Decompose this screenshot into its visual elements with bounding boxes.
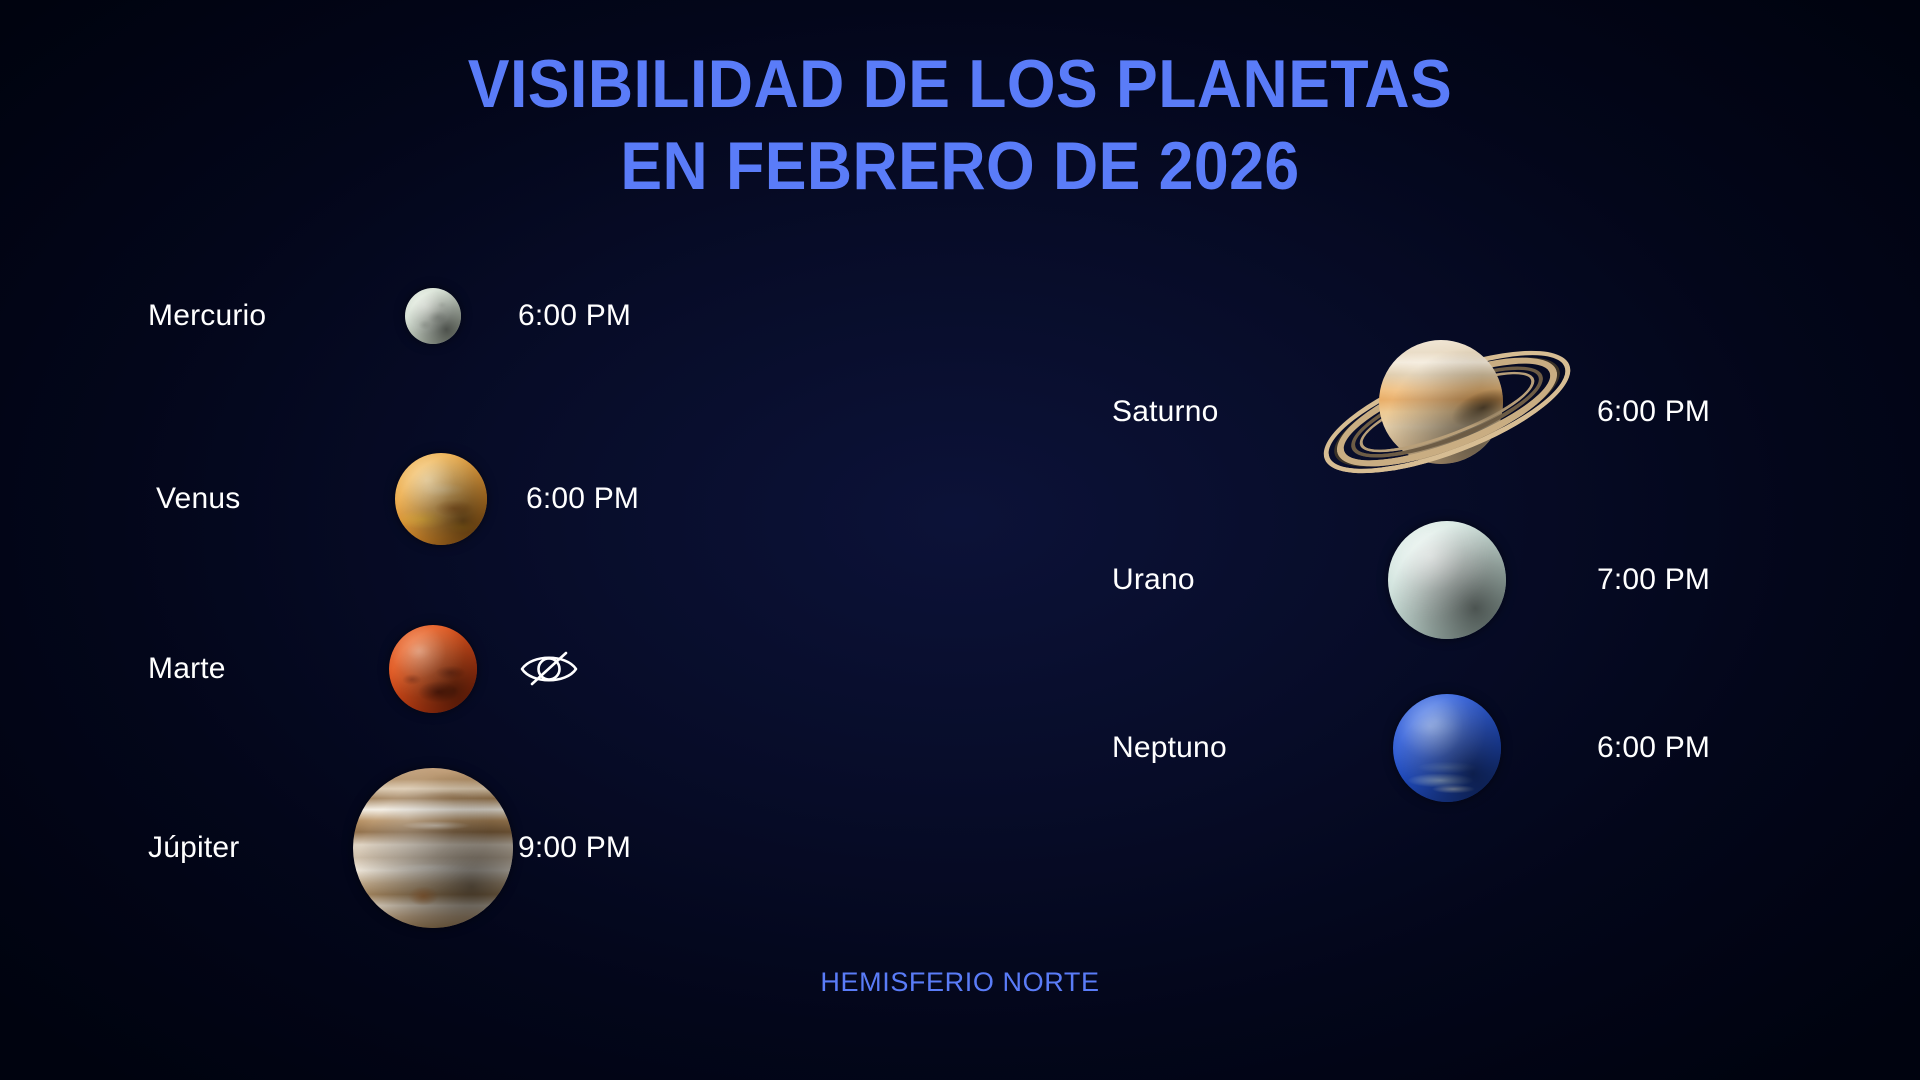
planet-name-jupiter: Júpiter <box>148 831 348 865</box>
page-title: VISIBILIDAD DE LOS PLANETAS EN FEBRERO D… <box>0 50 1920 200</box>
planet-name-venus: Venus <box>148 482 356 516</box>
infographic-canvas: VISIBILIDAD DE LOS PLANETAS EN FEBRERO D… <box>0 0 1920 1080</box>
title-line-2: EN FEBRERO DE 2026 <box>77 132 1843 200</box>
planet-time-saturno: 6:00 PM <box>1597 395 1797 429</box>
neptune-planet-icon <box>1297 694 1597 802</box>
hemisphere-caption-text: HEMISFERIO NORTE <box>820 967 1099 997</box>
planet-row-saturno: Saturno 6:00 PM <box>1112 312 1812 512</box>
mars-planet-icon <box>348 625 518 713</box>
eye-off-icon <box>518 648 580 690</box>
planet-row-urano: Urano 7:00 PM <box>1112 500 1812 660</box>
uranus-planet-icon <box>1297 521 1597 639</box>
saturn-planet-icon <box>1297 332 1597 492</box>
planet-row-marte: Marte <box>148 625 808 713</box>
planet-name-urano: Urano <box>1112 563 1297 597</box>
planet-time-venus: 6:00 PM <box>526 482 746 516</box>
planet-row-venus: Venus 6:00 PM <box>148 453 808 545</box>
planet-row-mercurio: Mercurio 6:00 PM <box>148 288 808 344</box>
planet-time-urano: 7:00 PM <box>1597 563 1797 597</box>
planet-row-neptuno: Neptuno 6:00 PM <box>1112 668 1812 828</box>
planet-name-mercurio: Mercurio <box>148 299 348 333</box>
planet-name-marte: Marte <box>148 652 348 686</box>
mercury-planet-icon <box>348 288 518 344</box>
planet-name-neptuno: Neptuno <box>1112 731 1297 765</box>
jupiter-planet-icon <box>348 768 518 928</box>
title-line-1: VISIBILIDAD DE LOS PLANETAS <box>77 50 1843 118</box>
planet-visibility-marte <box>518 648 738 690</box>
planet-name-saturno: Saturno <box>1112 395 1297 429</box>
venus-planet-icon <box>356 453 526 545</box>
hemisphere-caption: HEMISFERIO NORTE <box>0 967 1920 998</box>
planet-row-jupiter: Júpiter 9:00 PM <box>148 748 808 948</box>
planet-time-mercurio: 6:00 PM <box>518 299 738 333</box>
planet-time-neptuno: 6:00 PM <box>1597 731 1797 765</box>
planet-time-jupiter: 9:00 PM <box>518 831 738 865</box>
